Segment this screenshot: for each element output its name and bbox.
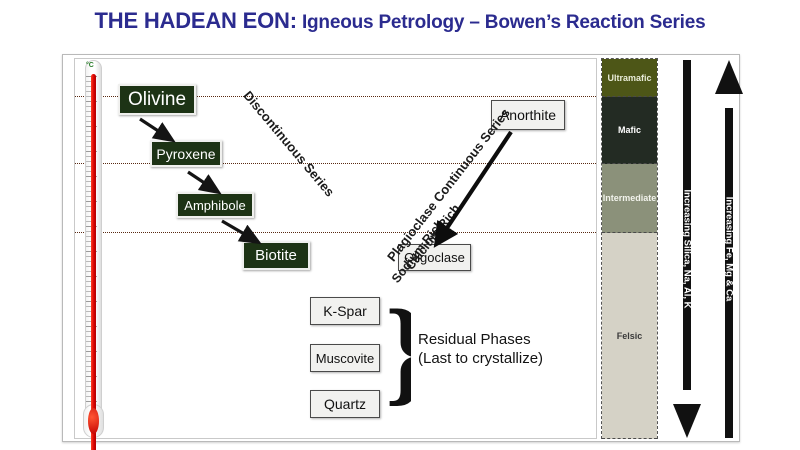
residual-phases-subtitle: (Last to crystallize): [418, 349, 543, 368]
rock-composition-column: UltramaficMaficIntermediateFelsic: [601, 58, 658, 439]
mineral-box-biotite[interactable]: Biotite: [242, 241, 310, 270]
celsius-unit-label: °C: [86, 62, 94, 69]
rock-segment-mafic[interactable]: Mafic: [602, 97, 657, 164]
residual-phases-heading: Residual Phases: [418, 330, 543, 349]
mineral-box-k-spar[interactable]: K-Spar: [310, 297, 380, 325]
mineral-box-muscovite[interactable]: Muscovite: [310, 344, 380, 372]
mineral-label: Quartz: [324, 396, 366, 412]
increasing-femgca-arrow: Increasing Fe, Mg & Ca: [714, 60, 744, 438]
rock-segment-label: Ultramafic: [607, 73, 651, 83]
arrow-head-up-icon: [715, 60, 743, 94]
title-lead: THE HADEAN EON:: [95, 8, 297, 33]
rock-segment-label: Mafic: [618, 125, 641, 135]
title-rest: Igneous Petrology – Bowen’s Reaction Ser…: [297, 12, 706, 33]
residual-phases-caption: Residual Phases (Last to crystallize): [418, 330, 543, 368]
thermometer-mercury-bulb: [88, 408, 99, 434]
increasing-femgca-label: Increasing Fe, Mg & Ca: [724, 197, 735, 302]
rock-segment-ultramafic[interactable]: Ultramafic: [602, 59, 657, 97]
mineral-label: Pyroxene: [156, 146, 215, 162]
rock-segment-label: Intermediate: [603, 193, 657, 203]
rock-segment-label: Felsic: [617, 331, 643, 341]
mineral-label: Muscovite: [316, 351, 375, 366]
rock-segment-intermediate[interactable]: Intermediate: [602, 164, 657, 233]
mineral-label: Biotite: [255, 247, 297, 264]
page-title: THE HADEAN EON: Igneous Petrology – Bowe…: [0, 8, 800, 34]
mineral-box-pyroxene[interactable]: Pyroxene: [150, 140, 222, 167]
mineral-box-amphibole[interactable]: Amphibole: [176, 192, 254, 218]
divider-line-3: [75, 232, 596, 233]
mineral-box-olivine[interactable]: Olivine: [118, 84, 196, 115]
mineral-label: Amphibole: [184, 198, 245, 213]
rock-segment-felsic[interactable]: Felsic: [602, 233, 657, 439]
residual-brace: }: [385, 296, 411, 422]
thermometer-mercury: [91, 74, 96, 450]
mineral-label: K-Spar: [323, 303, 367, 319]
thermometer: °C: [80, 60, 108, 438]
mineral-label: Olivine: [128, 89, 186, 111]
mineral-box-quartz[interactable]: Quartz: [310, 390, 380, 418]
arrow-head-down-icon: [673, 404, 701, 438]
slide-canvas: THE HADEAN EON: Igneous Petrology – Bowe…: [0, 0, 800, 450]
increasing-silica-label: Increasing Silica, Na, Al, K: [682, 190, 693, 309]
increasing-silica-arrow: Increasing Silica, Na, Al, K: [672, 60, 702, 438]
